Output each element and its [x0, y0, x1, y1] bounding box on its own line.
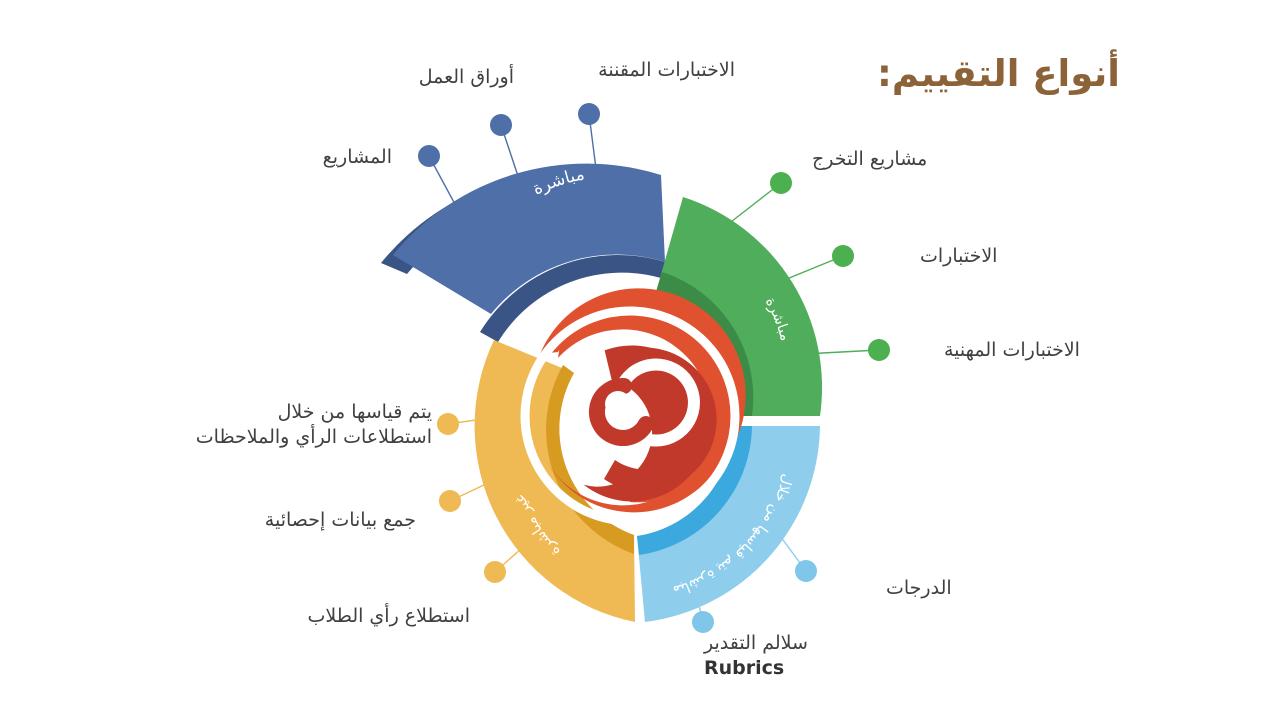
- dot-statistical-data[interactable]: [439, 490, 461, 512]
- dot-projects[interactable]: [418, 145, 440, 167]
- dot-student-opinion-survey[interactable]: [484, 561, 506, 583]
- spiral-center-hole: [605, 391, 631, 417]
- dot-professional-tests[interactable]: [868, 339, 890, 361]
- callout-label-standardized-tests: الاختبارات المقننة: [598, 58, 735, 84]
- callout-label-surveys-line1: يتم قياسها من خلال: [278, 401, 432, 423]
- callout-label-graduation-projects: مشاريع التخرج: [812, 147, 927, 173]
- page-title: أنواع التقييم:: [877, 54, 1120, 95]
- callout-label-rubrics-ar: سلالم التقدير: [704, 632, 808, 654]
- callout-label-projects: المشاريع: [323, 145, 392, 171]
- callout-label-surveys-line2: استطلاعات الرأي والملاحظات: [196, 426, 432, 448]
- callout-label-rubrics-en: Rubrics: [704, 656, 904, 681]
- callout-label-worksheets: أوراق العمل: [419, 65, 514, 91]
- infographic-canvas: مباشرة مباشرة مباشرة يتم قياسها من خلال …: [0, 0, 1280, 720]
- dot-grades[interactable]: [795, 560, 817, 582]
- callout-label-rubrics: سلالم التقدير Rubrics: [704, 631, 904, 680]
- callout-label-professional-tests: الاختبارات المهنية: [944, 338, 1080, 364]
- callout-label-statistical-data: جمع بيانات إحصائية: [265, 508, 416, 534]
- callout-label-student-opinion-survey: استطلاع رأي الطلاب: [308, 604, 470, 630]
- dot-worksheets[interactable]: [490, 114, 512, 136]
- dot-tests[interactable]: [832, 245, 854, 267]
- dot-surveys-observations[interactable]: [437, 413, 459, 435]
- dot-rubrics[interactable]: [692, 611, 714, 633]
- callout-label-tests: الاختبارات: [920, 244, 997, 270]
- callout-label-surveys-observations: يتم قياسها من خلال استطلاعات الرأي والمل…: [162, 400, 432, 449]
- assessment-types-wheel: مباشرة مباشرة مباشرة يتم قياسها من خلال …: [0, 0, 1280, 720]
- dot-standardized-tests[interactable]: [578, 103, 600, 125]
- dot-graduation-projects[interactable]: [770, 172, 792, 194]
- callout-label-grades: الدرجات: [886, 576, 952, 602]
